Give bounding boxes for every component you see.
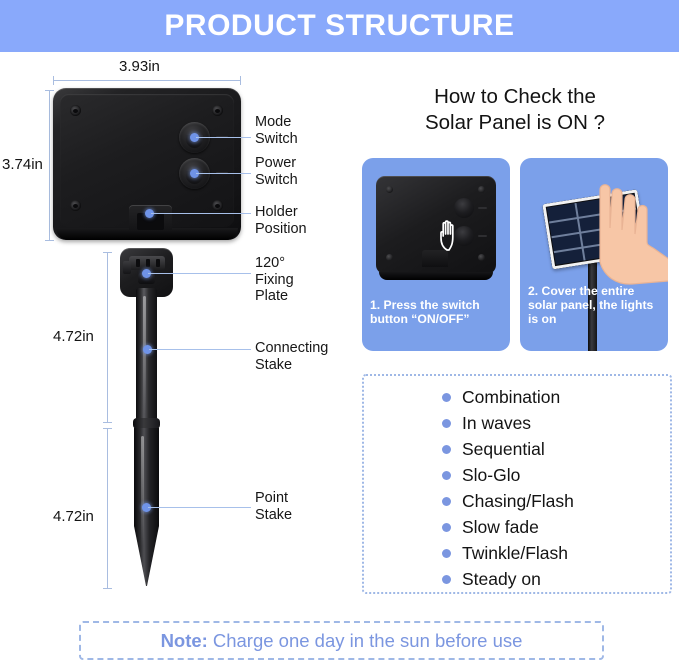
mode-label: Sequential xyxy=(462,440,545,459)
callout-leader-connecting-stake xyxy=(149,349,251,350)
connecting-stake-dimension-label: 4.72in xyxy=(53,328,94,345)
height-dimension-label: 3.74in xyxy=(2,156,43,173)
step-1-vent-2 xyxy=(478,235,487,237)
step-1-caption-line1: 1. Press the switch xyxy=(370,298,480,312)
callout-label-holder-position-line2: Position xyxy=(255,221,307,237)
mode-label: Twinkle/Flash xyxy=(462,544,568,563)
connecting-stake-highlight xyxy=(143,296,146,414)
callout-label-connecting-stake-line1: Connecting xyxy=(255,340,328,356)
step-1-screw-top-right-icon xyxy=(478,186,485,193)
step-1-caption-line2: button “ON/OFF” xyxy=(370,312,470,326)
mode-label: In waves xyxy=(462,414,531,433)
callout-label-holder-position: Holder Position xyxy=(255,204,307,237)
callout-label-holder-position-line1: Holder xyxy=(255,204,298,220)
point-stake-dimension-label: 4.72in xyxy=(53,508,94,525)
mode-item-chasing-flash[interactable]: Chasing/Flash xyxy=(442,492,574,511)
bullet-icon xyxy=(442,445,451,454)
bullet-icon xyxy=(442,497,451,506)
screw-top-left-icon xyxy=(70,105,81,116)
howto-step-2-card: 2. Cover the entire solar panel, the lig… xyxy=(520,158,668,351)
step-1-caption: 1. Press the switch button “ON/OFF” xyxy=(370,298,504,326)
point-stake-tick-top xyxy=(103,428,112,429)
howto-heading-line1: How to Check the xyxy=(434,85,596,108)
callout-leader-holder-position xyxy=(151,213,251,214)
callout-label-fixing-plate-line1: 120° xyxy=(255,255,285,271)
width-dimension-tick-right xyxy=(240,76,241,85)
callout-label-point-stake-line1: Point xyxy=(255,490,288,506)
step-1-vent-1 xyxy=(478,207,487,209)
pointing-hand-icon xyxy=(438,220,464,252)
connecting-stake-dimension-line xyxy=(107,252,108,422)
callout-leader-mode-switch xyxy=(196,137,251,138)
callout-leader-fixing-plate xyxy=(148,273,251,274)
mode-item-in-waves[interactable]: In waves xyxy=(442,414,531,433)
step-1-screw-bottom-right-icon xyxy=(478,254,485,261)
mode-item-sequential[interactable]: Sequential xyxy=(442,440,545,459)
point-stake-dimension-line xyxy=(107,428,108,588)
howto-step-1-card: 1. Press the switch button “ON/OFF” xyxy=(362,158,510,351)
mode-item-twinkle-flash[interactable]: Twinkle/Flash xyxy=(442,544,568,563)
step-1-holder xyxy=(422,250,448,267)
height-dimension-tick-top xyxy=(45,90,54,91)
mode-label: Slo-Glo xyxy=(462,466,520,485)
callout-label-power-switch-line2: Switch xyxy=(255,172,298,188)
bullet-icon xyxy=(442,575,451,584)
callout-label-mode-switch-line1: Mode xyxy=(255,114,291,130)
callout-leader-point-stake xyxy=(148,507,251,508)
page-header: PRODUCT STRUCTURE xyxy=(0,0,679,52)
howto-heading-line2: Solar Panel is ON ? xyxy=(425,111,605,134)
mode-label: Combination xyxy=(462,388,560,407)
screw-top-right-icon xyxy=(212,105,223,116)
callout-label-power-switch: Power Switch xyxy=(255,155,298,188)
bullet-icon xyxy=(442,419,451,428)
callout-label-mode-switch: Mode Switch xyxy=(255,114,298,147)
mode-item-steady-on[interactable]: Steady on xyxy=(442,570,541,589)
mode-label: Chasing/Flash xyxy=(462,492,574,511)
connecting-stake-illustration xyxy=(136,288,157,424)
callout-label-connecting-stake: Connecting Stake xyxy=(255,340,328,373)
bullet-icon xyxy=(442,393,451,402)
callout-label-connecting-stake-line2: Stake xyxy=(255,357,292,373)
screw-bottom-right-icon xyxy=(212,200,223,211)
step-1-mode-switch-knob xyxy=(454,198,474,218)
howto-heading: How to Check the Solar Panel is ON ? xyxy=(362,84,668,136)
step-2-caption-line3: is on xyxy=(528,312,556,326)
width-dimension-label: 3.93in xyxy=(119,58,160,75)
footer-note: Note: Charge one day in the sun before u… xyxy=(79,621,604,660)
callout-label-fixing-plate-line3: Plate xyxy=(255,288,288,304)
bullet-icon xyxy=(442,549,451,558)
screw-bottom-left-icon xyxy=(70,200,81,211)
callout-label-point-stake: Point Stake xyxy=(255,490,292,523)
covering-hand-icon xyxy=(572,180,668,298)
page-title: PRODUCT STRUCTURE xyxy=(164,11,514,41)
step-1-screw-top-left-icon xyxy=(386,186,393,193)
step-2-caption-line1: 2. Cover the entire xyxy=(528,284,634,298)
mode-item-slo-glo[interactable]: Slo-Glo xyxy=(442,466,520,485)
height-dimension-line xyxy=(49,90,50,240)
step-1-panel-base xyxy=(379,272,493,280)
callout-leader-power-switch xyxy=(196,173,251,174)
callout-label-fixing-plate: 120° Fixing Plate xyxy=(255,255,294,305)
bullet-icon xyxy=(442,523,451,532)
fixing-plate-nub xyxy=(123,261,131,274)
mode-item-combination[interactable]: Combination xyxy=(442,388,560,407)
mode-label: Steady on xyxy=(462,570,541,589)
mode-label: Slow fade xyxy=(462,518,539,537)
fixing-plate-bar xyxy=(129,256,165,270)
callout-label-point-stake-line2: Stake xyxy=(255,507,292,523)
step-1-panel-illustration xyxy=(376,176,496,274)
width-dimension-tick-left xyxy=(53,76,54,85)
stake-collar xyxy=(133,418,160,429)
callout-label-fixing-plate-line2: Fixing xyxy=(255,272,294,288)
bullet-icon xyxy=(442,471,451,480)
point-stake-highlight xyxy=(141,436,144,546)
connecting-stake-tick-bottom xyxy=(103,422,112,423)
lighting-modes-panel: Combination In waves Sequential Slo-Glo … xyxy=(362,374,672,594)
step-2-caption: 2. Cover the entire solar panel, the lig… xyxy=(528,284,662,326)
point-stake-tick-bottom xyxy=(103,588,112,589)
footer-note-prefix: Note: xyxy=(161,630,208,652)
callout-label-power-switch-line1: Power xyxy=(255,155,296,171)
step-1-screw-bottom-left-icon xyxy=(386,254,393,261)
height-dimension-tick-bottom xyxy=(45,240,54,241)
step-2-caption-line2: solar panel, the lights xyxy=(528,298,653,312)
connecting-stake-tick-top xyxy=(103,252,112,253)
mode-item-slow-fade[interactable]: Slow fade xyxy=(442,518,539,537)
width-dimension-line xyxy=(53,80,241,81)
footer-note-text: Charge one day in the sun before use xyxy=(213,630,523,652)
callout-label-mode-switch-line2: Switch xyxy=(255,131,298,147)
